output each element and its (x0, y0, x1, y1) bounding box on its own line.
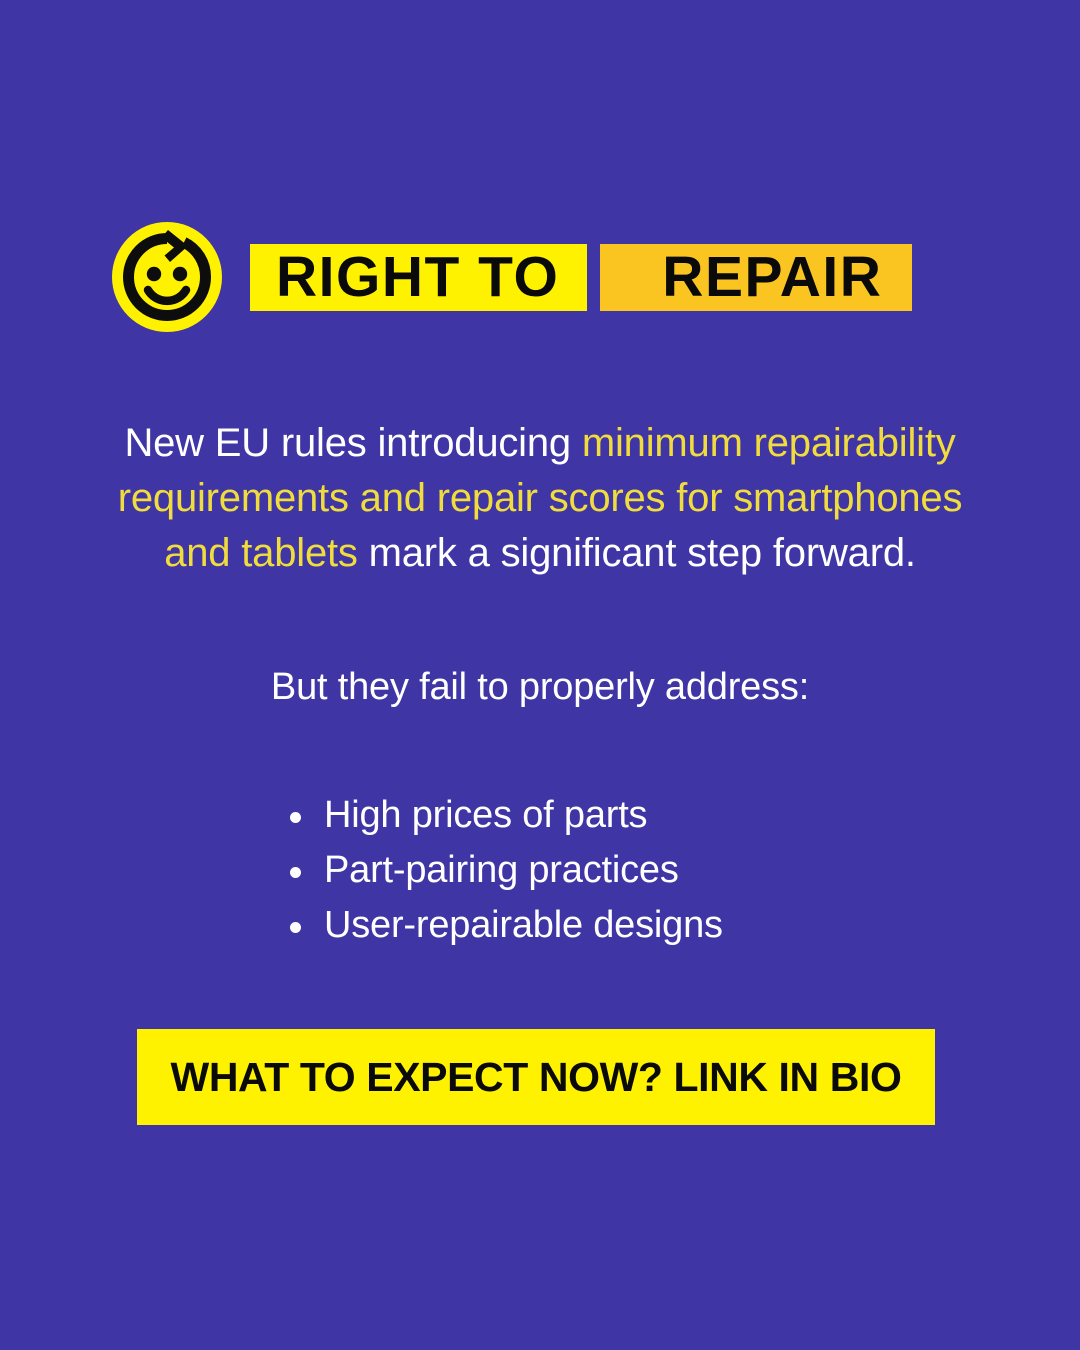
badge-repair: REPAIR (600, 244, 912, 311)
subhead: But they fail to properly address: (90, 662, 990, 712)
bullet-dot-icon (290, 867, 301, 878)
lede-part-one: New EU rules introducing (124, 421, 581, 465)
list-item-label: Part-pairing practices (324, 849, 679, 891)
lede-part-three: mark a significant step forward. (358, 531, 916, 575)
header-lockup: RIGHT TO REPAIR (112, 222, 968, 332)
bullet-dot-icon (290, 812, 301, 823)
badge-right-to: RIGHT TO (250, 244, 587, 311)
wordmark: RIGHT TO REPAIR (250, 244, 912, 311)
cta-label: WHAT TO EXPECT NOW? LINK IN BIO (171, 1057, 902, 1098)
list-item-label: High prices of parts (324, 794, 647, 836)
bullet-dot-icon (290, 922, 301, 933)
social-card: RIGHT TO REPAIR New EU rules introducing… (0, 0, 1080, 1350)
cta-banner[interactable]: WHAT TO EXPECT NOW? LINK IN BIO (137, 1029, 935, 1125)
list-item: Part-pairing practices (288, 843, 888, 898)
repair-smiley-circular-arrow-icon (112, 222, 222, 332)
shortcomings-list: High prices of parts Part-pairing practi… (288, 788, 888, 953)
list-item-label: User-repairable designs (324, 904, 723, 946)
lede-paragraph: New EU rules introducing minimum repaira… (90, 416, 990, 581)
list-item: User-repairable designs (288, 898, 888, 953)
list-item: High prices of parts (288, 788, 888, 843)
